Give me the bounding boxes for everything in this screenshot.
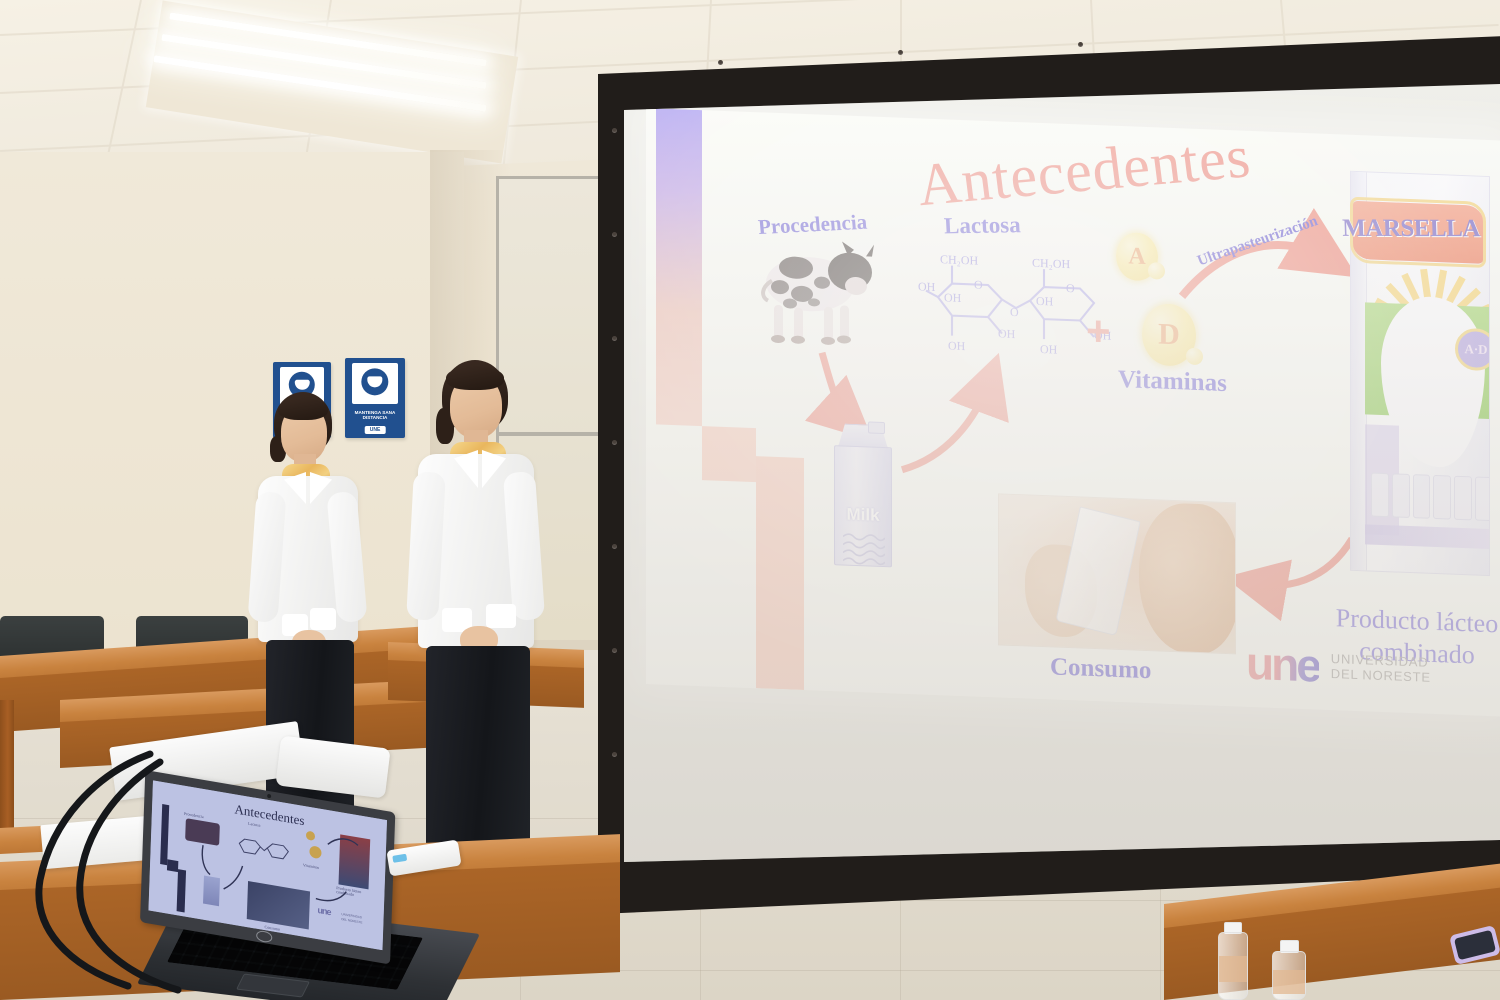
photo-scene: USO OBLIGATORIO DE CUBREBOCAS UNE MANTEN… xyxy=(0,0,1500,1000)
laptop-cables xyxy=(0,740,420,1000)
bottle-label xyxy=(1219,956,1247,982)
projection-screen: Antecedentes xyxy=(598,36,1500,914)
screen-unlit-area xyxy=(624,84,1500,862)
cuff-right xyxy=(310,608,336,630)
hair-front xyxy=(446,366,504,390)
screen-surface: Antecedentes xyxy=(624,84,1500,862)
hair-front xyxy=(278,398,328,420)
water-bottle-2 xyxy=(1270,940,1308,1000)
bottle-label xyxy=(1273,970,1305,994)
water-bottle-1 xyxy=(1216,922,1250,1000)
cuff-right xyxy=(486,604,516,628)
